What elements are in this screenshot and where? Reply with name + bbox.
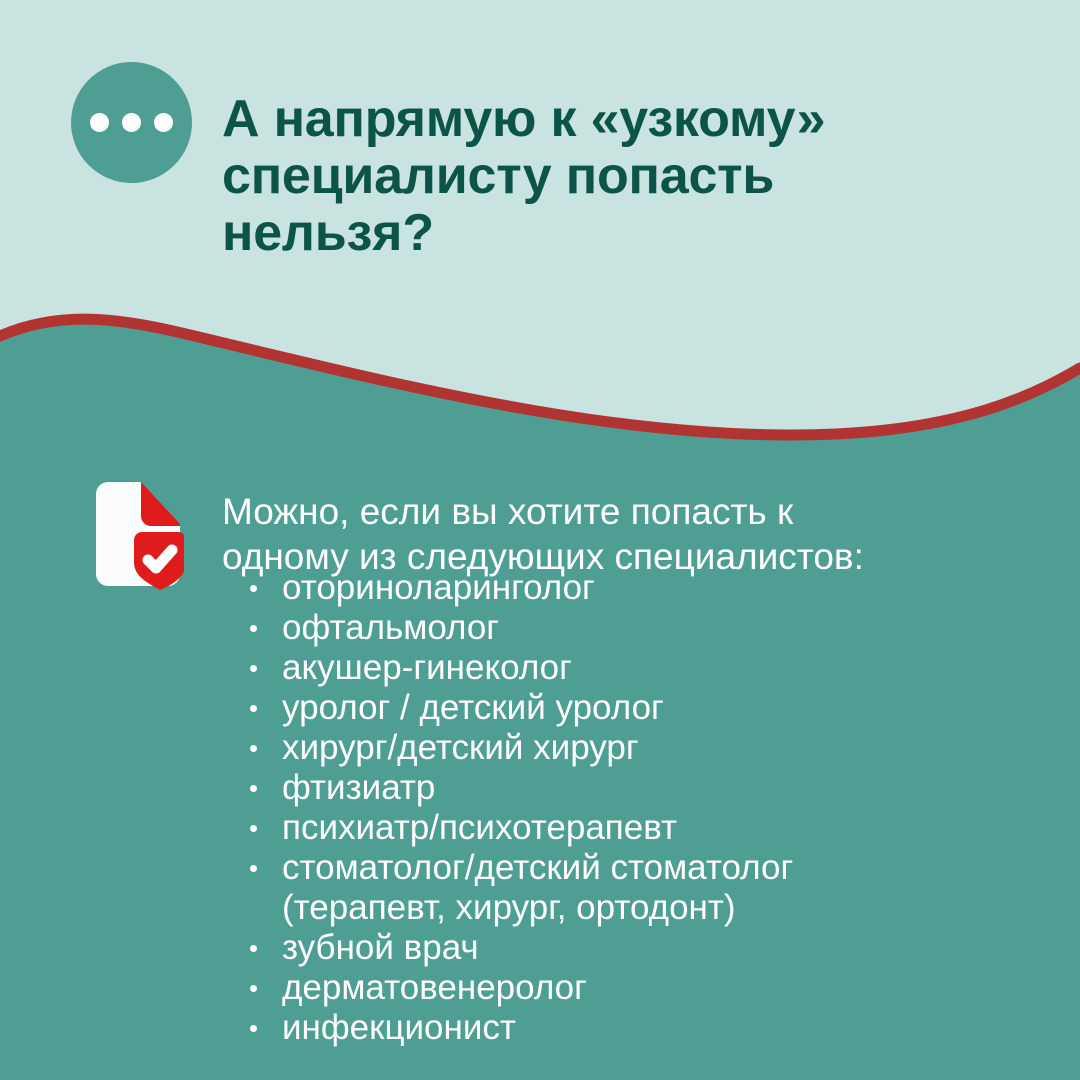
dot-3 xyxy=(154,113,173,132)
list-item-label: зубной врач xyxy=(282,928,479,967)
bullet-icon xyxy=(250,585,257,592)
list-item-label: дерматовенеролог xyxy=(282,968,587,1007)
three-dots-icon xyxy=(71,62,192,183)
list-item-label: акушер-гинеколог xyxy=(282,648,572,687)
document-shield-check-icon xyxy=(84,480,184,590)
bullet-icon xyxy=(250,705,257,712)
list-item: дерматовенеролог xyxy=(240,968,1060,1008)
list-item-label: психиатр/психотерапевт xyxy=(282,808,677,847)
list-item-label: хирург/детский хирург xyxy=(282,728,639,767)
poster-canvas: А напрямую к «узкому» специалисту попаст… xyxy=(0,0,1080,1080)
bullet-icon xyxy=(250,745,257,752)
list-item: фтизиатр xyxy=(240,768,1060,808)
list-item: акушер-гинеколог xyxy=(240,648,1060,688)
bullet-icon xyxy=(250,825,257,832)
list-item: зубной врач xyxy=(240,928,1060,968)
list-item-label: уролог / детский уролог xyxy=(282,688,664,727)
list-item: стоматолог/детский стоматолог (терапевт,… xyxy=(240,848,1060,928)
lead-paragraph: Можно, если вы хотите попасть к одному и… xyxy=(222,489,1032,579)
page-title: А напрямую к «узкому» специалисту попаст… xyxy=(222,91,1042,262)
bullet-icon xyxy=(250,1025,257,1032)
header-section: А напрямую к «узкому» специалисту попаст… xyxy=(0,0,1080,320)
list-item: оториноларинголог xyxy=(240,568,1060,608)
list-item-label: инфекционист xyxy=(282,1008,516,1047)
list-item-label: стоматолог/детский стоматолог (терапевт,… xyxy=(282,848,793,927)
bullet-icon xyxy=(250,785,257,792)
list-item: хирург/детский хирург xyxy=(240,728,1060,768)
folded-corner-shape xyxy=(141,482,180,528)
bullet-icon xyxy=(250,985,257,992)
dot-1 xyxy=(90,113,109,132)
list-item-label: офтальмолог xyxy=(282,608,499,647)
list-item-label: фтизиатр xyxy=(282,768,435,807)
bullet-icon xyxy=(250,665,257,672)
bullet-icon xyxy=(250,945,257,952)
list-item: инфекционист xyxy=(240,1008,1060,1048)
dot-2 xyxy=(122,113,141,132)
list-item-label: оториноларинголог xyxy=(282,568,595,607)
list-item: офтальмолог xyxy=(240,608,1060,648)
specialist-list: оториноларинголог офтальмолог акушер-гин… xyxy=(240,568,1060,1048)
bullet-icon xyxy=(250,865,257,872)
list-item: психиатр/психотерапевт xyxy=(240,808,1060,848)
list-item: уролог / детский уролог xyxy=(240,688,1060,728)
bullet-icon xyxy=(250,625,257,632)
